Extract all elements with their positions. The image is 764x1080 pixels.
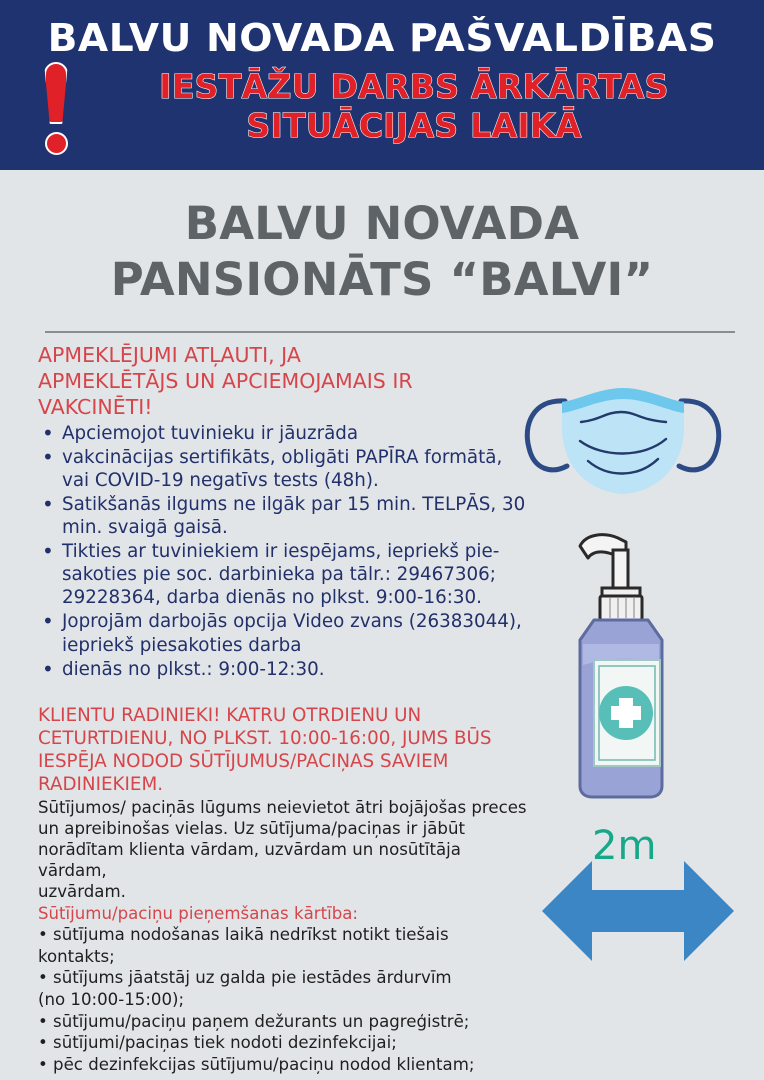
exclamation-mark-icon: [38, 62, 80, 162]
parcels-description-line-1: Sūtījumos/ paciņās lūgums neievietot ātr…: [38, 797, 528, 818]
list-item: • sūtījums jāatstāj uz galda pie iestāde…: [38, 967, 528, 989]
list-item: Joprojām darbojās opcija Video zvans (26…: [38, 610, 528, 656]
poster-root: BALVU NOVADA PAŠVALDĪBAS IESTĀŽU DARBS Ā…: [0, 0, 764, 1080]
institution-title-line-2: PANSIONĀTS “BALVI”: [0, 252, 764, 308]
header-subtitle-line-2: SITUĀCIJAS LAIKĀ: [84, 107, 744, 146]
surgical-face-mask-icon: [518, 366, 728, 498]
list-item: • sūtījumu/paciņu paņem dežurants un pag…: [38, 1011, 528, 1033]
institution-title: BALVU NOVADA PANSIONĀTS “BALVI”: [0, 196, 764, 309]
parcels-description: Sūtījumos/ paciņās lūgums neievietot ātr…: [38, 797, 528, 903]
parcels-notice-line-3: IESPĒJA NODOD SŪTĪJUMUS/PACIŅAS SAVIEM: [38, 750, 528, 773]
header-subtitle-line-1: IESTĀŽU DARBS ĀRKĀRTAS: [84, 68, 744, 107]
parcels-notice-line-1: KLIENTU RADINIEKI! KATRU OTRDIENU UN: [38, 704, 528, 727]
parcels-notice-line-4: RADINIEKIEM.: [38, 773, 528, 796]
two-meter-distance-arrow-icon: 2m: [540, 824, 736, 974]
list-item: dienās no plkst.: 9:00-12:30.: [38, 658, 528, 681]
procedure-list: • sūtījuma nodošanas laikā nedrīkst noti…: [38, 924, 528, 1075]
exclamation-bar: [44, 62, 68, 124]
list-item: vakcinācijas sertifikāts, obligāti PAPĪR…: [38, 446, 528, 492]
footer-spacer: [38, 1075, 528, 1080]
exclamation-dot: [45, 132, 68, 155]
section-spacer: [38, 682, 528, 704]
visits-heading-line-3: VAKCINĒTI!: [38, 394, 528, 420]
list-item: Apciemojot tuvinieku ir jāuzrāda: [38, 422, 528, 445]
parcels-description-line-4: uzvārdam.: [38, 881, 528, 902]
institution-title-line-1: BALVU NOVADA: [0, 196, 764, 252]
title-divider: [45, 331, 735, 333]
list-item: • sūtījumi/paciņas tiek nodoti dezinfekc…: [38, 1032, 528, 1054]
procedure-heading: Sūtījumu/paciņu pieņemšanas kārtība:: [38, 903, 528, 925]
visits-bullet-list: Apciemojot tuvinieku ir jāuzrāda vakcinā…: [38, 422, 528, 681]
list-item: Tikties ar tuviniekiem ir iespējams, iep…: [38, 540, 528, 609]
list-item: Satikšanās ilgums ne ilgāk par 15 min. T…: [38, 493, 528, 539]
header-banner: BALVU NOVADA PAŠVALDĪBAS IESTĀŽU DARBS Ā…: [0, 0, 764, 170]
list-item: • pēc dezinfekcijas sūtījumu/paciņu nodo…: [38, 1054, 528, 1076]
page-title: BALVU NOVADA PAŠVALDĪBAS: [0, 16, 764, 60]
parcels-notice-line-2: CETURTDIENU, NO PLKST. 10:00-16:00, JUMS…: [38, 727, 528, 750]
visits-heading-line-1: APMEKLĒJUMI ATĻAUTI, JA: [38, 342, 528, 368]
parcels-notice: KLIENTU RADINIEKI! KATRU OTRDIENU UN CET…: [38, 704, 528, 797]
hand-sanitizer-bottle-icon: [556, 528, 706, 800]
list-item: (no 10:00-15:00);: [38, 989, 528, 1011]
list-item: • sūtījuma nodošanas laikā nedrīkst noti…: [38, 924, 528, 967]
header-subtitle: IESTĀŽU DARBS ĀRKĀRTAS SITUĀCIJAS LAIKĀ: [84, 68, 744, 146]
visits-heading-line-2: APMEKLĒTĀJS UN APCIEMOJAMAIS IR: [38, 368, 528, 394]
visits-heading: APMEKLĒJUMI ATĻAUTI, JA APMEKLĒTĀJS UN A…: [38, 342, 528, 420]
parcels-description-line-2: un apreibinošas vielas. Uz sūtījuma/paci…: [38, 818, 528, 839]
content-column: APMEKLĒJUMI ATĻAUTI, JA APMEKLĒTĀJS UN A…: [38, 342, 528, 1080]
parcels-description-line-3: norādītam klienta vārdam, uzvārdam un no…: [38, 839, 528, 881]
